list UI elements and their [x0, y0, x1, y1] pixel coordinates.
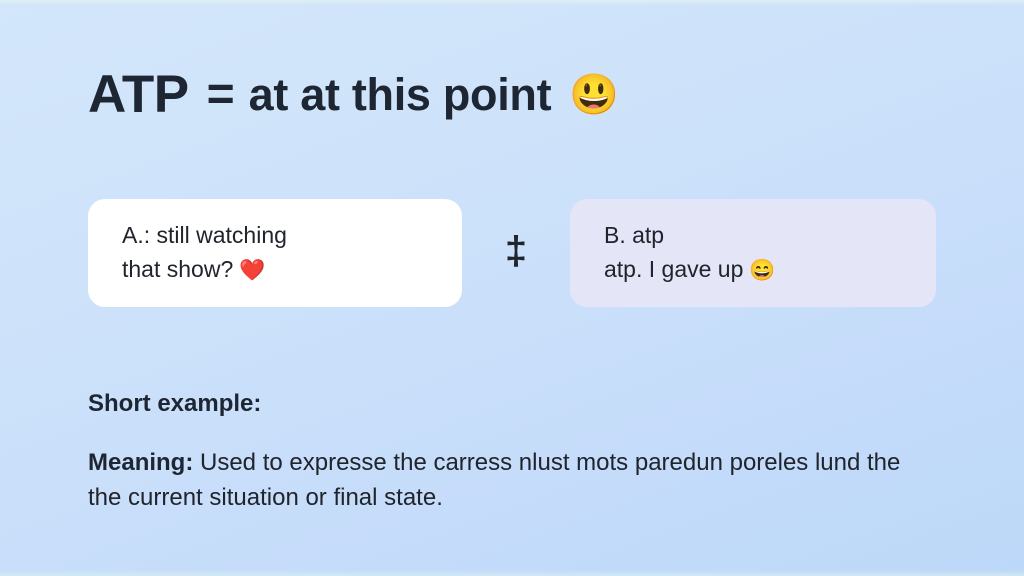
grinning-face-emoji: 😃 — [569, 75, 619, 115]
explanation-block: Short example: Meaning: Used to expresse… — [88, 390, 948, 516]
chat-bubble-b-line-1: B. atp — [604, 219, 902, 253]
chat-bubble-a: A.: still watching that show?❤️ — [88, 199, 462, 307]
red-heart-emoji: ❤️ — [239, 259, 265, 282]
title-equals-sign: = — [207, 71, 235, 119]
grinning-face-smiling-eyes-emoji: 😄 — [749, 259, 775, 282]
chat-bubble-b: B. atp atp. I gave up😄 — [570, 199, 936, 307]
meaning-text: Used to expresse the carress nlust mots … — [88, 449, 900, 512]
chat-bubble-a-line-1: A.: still watching — [122, 219, 428, 253]
chat-example-row: A.: still watching that show?❤️ ‡ B. atp… — [88, 198, 936, 308]
bubble-separator-icon: ‡ — [462, 231, 570, 275]
chat-bubble-b-text: atp. I gave up — [604, 256, 743, 282]
short-example-heading: Short example: — [88, 390, 948, 419]
chat-bubble-a-text: that show? — [122, 256, 233, 282]
slide-canvas: ATP = at at this point 😃 A.: still watch… — [0, 0, 1024, 576]
chat-bubble-b-line-2: atp. I gave up😄 — [604, 253, 902, 287]
title-term: ATP — [88, 68, 189, 121]
page-title: ATP = at at this point 😃 — [88, 68, 619, 121]
title-expansion: at at this point — [249, 72, 552, 117]
meaning-paragraph: Meaning: Used to expresse the carress nl… — [88, 445, 918, 516]
chat-bubble-a-line-2: that show?❤️ — [122, 253, 428, 287]
meaning-label: Meaning: — [88, 449, 193, 476]
